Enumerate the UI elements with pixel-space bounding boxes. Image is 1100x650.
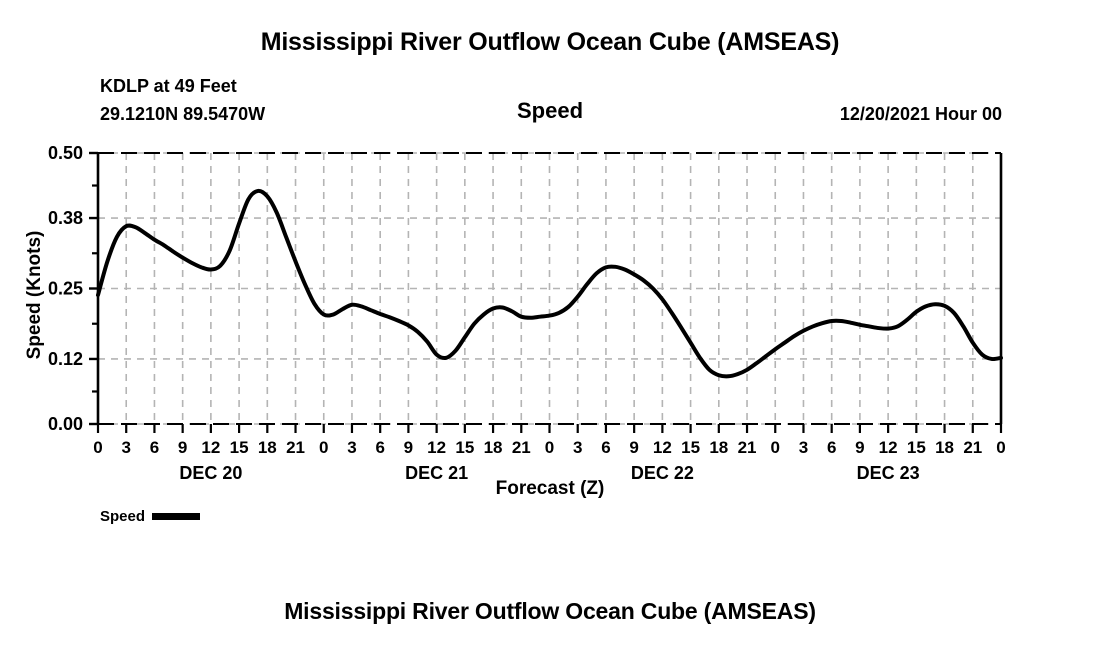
x-axis-tick-label: 18 xyxy=(258,438,277,457)
x-axis-tick-label: 0 xyxy=(93,438,102,457)
x-axis-tick-label: 9 xyxy=(404,438,413,457)
legend-swatch-speed xyxy=(152,513,200,520)
legend-label-speed: Speed xyxy=(100,508,145,525)
y-axis-tick-label: 0.12 xyxy=(48,349,83,369)
x-axis-tick-label: 15 xyxy=(681,438,700,457)
x-axis-tick-label: 6 xyxy=(827,438,836,457)
x-axis-tick-label: 3 xyxy=(799,438,808,457)
x-axis-tick-label: 9 xyxy=(855,438,864,457)
x-axis-tick-label: 3 xyxy=(347,438,356,457)
x-axis-tick-label: 18 xyxy=(709,438,728,457)
y-axis-tick-label: 0.00 xyxy=(48,414,83,434)
x-axis-tick-label: 18 xyxy=(935,438,954,457)
x-axis-tick-label: 0 xyxy=(319,438,328,457)
x-axis-tick-label: 12 xyxy=(653,438,672,457)
x-axis-tick-label: 6 xyxy=(150,438,159,457)
x-axis-tick-label: 12 xyxy=(879,438,898,457)
x-axis-tick-label: 21 xyxy=(738,438,757,457)
x-axis-tick-label: 3 xyxy=(573,438,582,457)
x-axis-tick-label: 21 xyxy=(512,438,531,457)
x-axis-tick-label: 6 xyxy=(601,438,610,457)
speed-time-series-plot: 0.000.120.250.380.5003691215182103691215… xyxy=(0,0,1100,500)
x-axis-tick-label: 3 xyxy=(121,438,130,457)
x-axis-tick-label: 15 xyxy=(907,438,926,457)
y-axis-tick-label: 0.38 xyxy=(48,208,83,228)
x-axis-tick-label: 0 xyxy=(771,438,780,457)
footer-title: Mississippi River Outflow Ocean Cube (AM… xyxy=(0,598,1100,625)
x-axis-tick-label: 9 xyxy=(629,438,638,457)
x-axis-tick-label: 15 xyxy=(455,438,474,457)
x-axis-tick-label: 0 xyxy=(545,438,554,457)
x-axis-tick-label: 21 xyxy=(963,438,982,457)
x-axis-tick-label: 21 xyxy=(286,438,305,457)
chart-legend: Speed xyxy=(100,508,200,525)
chart-page: Mississippi River Outflow Ocean Cube (AM… xyxy=(0,0,1100,650)
x-axis-tick-label: 12 xyxy=(427,438,446,457)
x-axis-title: Forecast (Z) xyxy=(0,478,1100,500)
x-axis-tick-label: 12 xyxy=(201,438,220,457)
x-axis-tick-label: 18 xyxy=(484,438,503,457)
x-axis-tick-label: 9 xyxy=(178,438,187,457)
y-axis-tick-label: 0.25 xyxy=(48,279,83,299)
x-axis-tick-label: 15 xyxy=(230,438,249,457)
y-axis-tick-label: 0.50 xyxy=(48,143,83,163)
x-axis-tick-label: 0 xyxy=(996,438,1005,457)
x-axis-tick-label: 6 xyxy=(375,438,384,457)
